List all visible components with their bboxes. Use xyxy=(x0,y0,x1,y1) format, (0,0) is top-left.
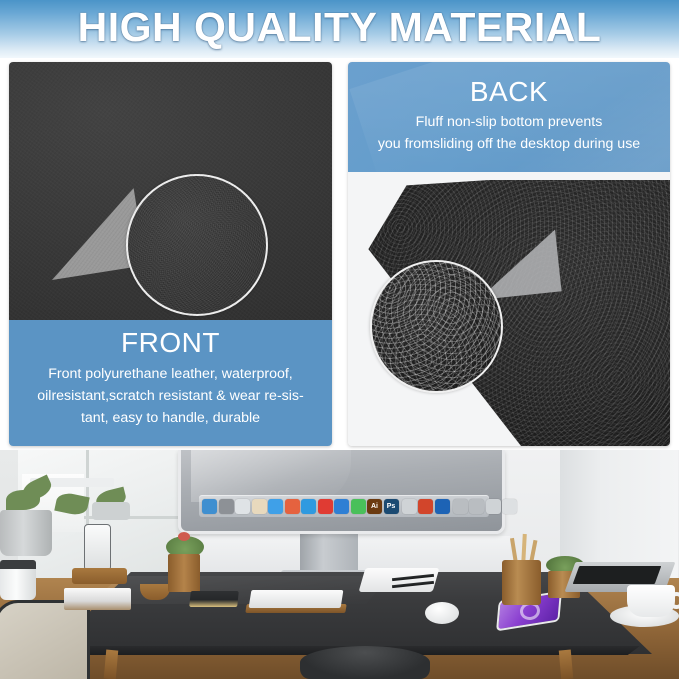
succulent-planter xyxy=(168,554,200,592)
back-description: Fluff non-slip bottom prevents you froms… xyxy=(348,112,670,155)
table-leg xyxy=(104,650,118,679)
front-description-line: Front polyurethane leather, waterproof, xyxy=(20,364,321,386)
stool xyxy=(300,646,430,679)
feature-cards-row: FRONT Front polyurethane leather, waterp… xyxy=(0,58,679,450)
files-icon[interactable] xyxy=(402,499,417,514)
smartphone xyxy=(84,524,111,571)
front-feature-card: FRONT Front polyurethane leather, waterp… xyxy=(9,62,332,446)
front-leather-texture-magnifier xyxy=(126,174,268,316)
monitor-neck xyxy=(300,534,358,574)
back-feature-card: BACK Fluff non-slip bottom prevents you … xyxy=(348,62,670,446)
back-fluff-texture-magnifier xyxy=(370,260,503,393)
front-description-line: tant, easy to handle, durable xyxy=(20,408,321,430)
coffee-mug-rim xyxy=(0,560,36,569)
settings-icon[interactable] xyxy=(219,499,234,514)
notes-icon[interactable] xyxy=(235,499,250,514)
small-planter xyxy=(92,502,130,520)
pencil-holder xyxy=(502,560,541,605)
page-title: HIGH QUALITY MATERIAL xyxy=(0,4,679,51)
photos-icon[interactable] xyxy=(285,499,300,514)
front-description: Front polyurethane leather, waterproof, … xyxy=(17,364,324,429)
front-description-line: oilresistant,scratch resistant & wear re… xyxy=(20,386,321,408)
photoshop-icon[interactable]: Ps xyxy=(384,499,399,514)
trash-icon[interactable] xyxy=(502,499,517,514)
front-heading: FRONT xyxy=(17,327,324,359)
powerpoint-icon[interactable] xyxy=(418,499,433,514)
folder-window-icon[interactable] xyxy=(453,499,468,514)
potted-plant xyxy=(0,510,52,556)
computer-mouse xyxy=(425,602,459,624)
back-heading: BACK xyxy=(348,76,670,108)
illustrator-icon[interactable]: Ai xyxy=(367,499,382,514)
finder-icon[interactable] xyxy=(202,499,217,514)
front-caption-panel: FRONT Front polyurethane leather, waterp… xyxy=(9,320,332,446)
back-description-line: you fromsliding off the desktop during u… xyxy=(354,134,664,156)
table-leg xyxy=(559,650,573,679)
safari-icon[interactable] xyxy=(301,499,316,514)
coffee-cup xyxy=(627,585,675,617)
header-banner: HIGH QUALITY MATERIAL xyxy=(0,0,679,58)
back-fluff-photo xyxy=(348,172,670,446)
close-x-icon[interactable] xyxy=(318,499,333,514)
laptop-keyboard xyxy=(573,566,662,584)
phone-stand xyxy=(72,568,127,584)
stacked-books xyxy=(64,588,131,610)
appstore-icon[interactable] xyxy=(268,499,283,514)
compass-icon[interactable] xyxy=(334,499,349,514)
outlook-icon[interactable] xyxy=(435,499,450,514)
front-leather-photo xyxy=(9,62,332,320)
wireless-keyboard xyxy=(249,590,344,608)
macos-dock[interactable]: AiPs xyxy=(199,495,489,517)
imac-monitor: AiPs xyxy=(178,450,505,534)
contacts-icon[interactable] xyxy=(252,499,267,514)
desk-mat-highlight xyxy=(90,576,390,604)
notebook xyxy=(189,591,239,607)
folder-window-2-icon[interactable] xyxy=(469,499,484,514)
office-chair xyxy=(0,600,90,679)
downloads-icon[interactable] xyxy=(486,499,501,514)
messages-icon[interactable] xyxy=(351,499,366,514)
back-description-line: Fluff non-slip bottom prevents xyxy=(354,112,664,134)
magnifier-pointer-icon xyxy=(40,188,146,280)
succulent-flower xyxy=(178,532,190,541)
back-caption-panel: BACK Fluff non-slip bottom prevents you … xyxy=(348,62,670,172)
lifestyle-desk-photo: AiPs xyxy=(0,450,679,679)
